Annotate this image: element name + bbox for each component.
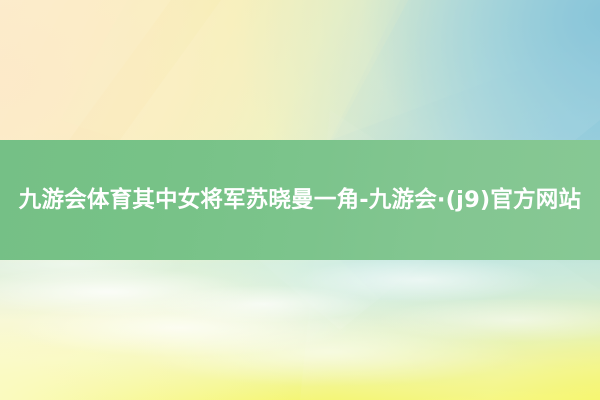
page-title: 九游会体育其中女将军苏晓曼一角-九游会·(j9)官方网站 xyxy=(15,183,585,217)
title-banner: 九游会体育其中女将军苏晓曼一角-九游会·(j9)官方网站 xyxy=(0,140,600,260)
page-root: 九游会体育其中女将军苏晓曼一角-九游会·(j9)官方网站 xyxy=(0,0,600,400)
